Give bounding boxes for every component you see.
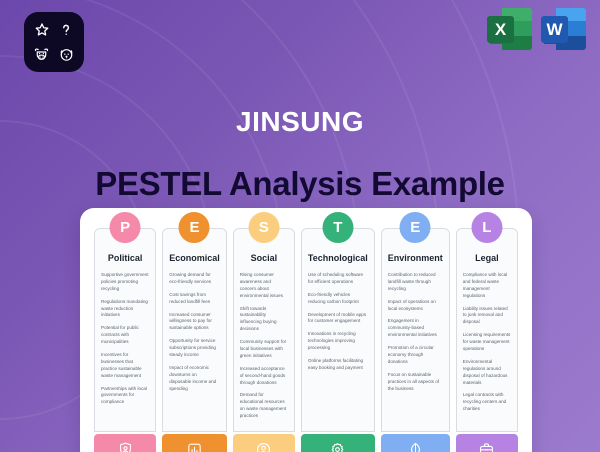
column-badge-economical: E [179, 212, 210, 243]
bullet-item: Licensing requirements for waste managem… [463, 332, 511, 353]
brand-name: JINSUNG [0, 106, 600, 138]
column-body: EconomicalGrowing demand for eco-friendl… [162, 228, 227, 432]
bullet-item: Innovations in recycling technologies im… [308, 331, 368, 352]
column-badge-environment: E [400, 212, 431, 243]
column-title: Environment [388, 253, 443, 263]
bullet-item: Engagement in community-based environmen… [388, 318, 443, 339]
bullet-item: Contribution to reduced landfill waste t… [388, 272, 443, 293]
bullet-item: Compliance with local and federal waste … [463, 272, 511, 300]
column-bullet-list: Use of scheduling software for efficient… [308, 272, 368, 372]
pestel-column-political: PPoliticalSupportive government policies… [94, 228, 156, 452]
bullet-item: Eco-friendly vehicles reducing carbon fo… [308, 292, 368, 306]
column-bullet-list: Growing demand for eco-friendly services… [169, 272, 220, 392]
excel-letter: X [487, 16, 514, 43]
bullet-item: Environmental regulations around disposa… [463, 359, 511, 387]
bullet-item: Online platforms facilitating easy booki… [308, 358, 368, 372]
pestel-column-technological: TTechnologicalUse of scheduling software… [301, 228, 375, 452]
shield-person-icon [94, 434, 156, 452]
column-body: EnvironmentContribution to reduced landf… [381, 228, 450, 432]
bullet-item: Rising consumer awareness and concern ab… [240, 272, 288, 300]
pestel-column-legal: LLegalCompliance with local and federal … [456, 228, 518, 452]
column-bullet-list: Supportive government policies promoting… [101, 272, 149, 406]
cow-face-icon [31, 44, 53, 66]
column-body: LegalCompliance with local and federal w… [456, 228, 518, 432]
bullet-item: Cost savings from reduced landfill fees [169, 292, 220, 306]
office-icon-group: X W [490, 8, 586, 50]
column-badge-technological: T [322, 212, 353, 243]
word-letter: W [541, 16, 568, 43]
bullet-item: Liability issues related to junk removal… [463, 306, 511, 327]
page-title: PESTEL Analysis Example [0, 165, 600, 203]
excel-icon[interactable]: X [490, 8, 532, 50]
bullet-item: Increased acceptance of second-hand good… [240, 366, 288, 387]
column-badge-social: S [248, 212, 279, 243]
pestel-column-environment: EEnvironmentContribution to reduced land… [381, 228, 450, 452]
person-circle-icon [233, 434, 295, 452]
bullet-item: Legal contracts with recycling centers a… [463, 392, 511, 413]
bullet-item: Growing demand for eco-friendly services [169, 272, 220, 286]
bullet-item: Incentives for businesses that practice … [101, 352, 149, 380]
bullet-item: Community support for local businesses w… [240, 339, 288, 360]
dog-face-icon [56, 44, 78, 66]
column-body: SocialRising consumer awareness and conc… [233, 228, 295, 432]
bullet-item: Increased consumer willingness to pay fo… [169, 312, 220, 333]
bullet-item: Focus on sustainable practices in all as… [388, 372, 443, 393]
column-badge-political: P [110, 212, 141, 243]
column-body: PoliticalSupportive government policies … [94, 228, 156, 432]
bullet-item: Opportunity for service subscriptions pr… [169, 338, 220, 359]
column-body: TechnologicalUse of scheduling software … [301, 228, 375, 432]
leaf-icon [381, 434, 450, 452]
brand-logo[interactable] [24, 12, 84, 72]
column-title: Economical [169, 253, 220, 263]
pestel-column-social: SSocialRising consumer awareness and con… [233, 228, 295, 452]
bullet-item: Promotion of a circular economy through … [388, 345, 443, 366]
briefcase-icon [456, 434, 518, 452]
bullet-item: Impact of operations on local ecosystems [388, 299, 443, 313]
pestel-card: PPoliticalSupportive government policies… [80, 208, 532, 452]
bullet-item: Demand for educational resources on wast… [240, 392, 288, 420]
column-title: Social [240, 253, 288, 263]
slide-canvas: X W JINSUNG PESTEL Analysis Example PPol… [0, 0, 600, 452]
bullet-item: Regulations mandating waste reduction in… [101, 299, 149, 320]
pestel-column-economical: EEconomicalGrowing demand for eco-friend… [162, 228, 227, 452]
column-bullet-list: Rising consumer awareness and concern ab… [240, 272, 288, 420]
column-title: Technological [308, 253, 368, 263]
question-mark-icon [56, 19, 78, 41]
bullet-item: Shift towards sustainability influencing… [240, 306, 288, 334]
bullet-item: Impact of economic downturns on disposab… [169, 365, 220, 393]
bullet-item: Use of scheduling software for efficient… [308, 272, 368, 286]
star-icon [31, 19, 53, 41]
column-title: Legal [463, 253, 511, 263]
column-bullet-list: Compliance with local and federal waste … [463, 272, 511, 413]
gear-icon [301, 434, 375, 452]
column-badge-legal: L [471, 212, 502, 243]
bar-chart-icon [162, 434, 227, 452]
column-title: Political [101, 253, 149, 263]
bullet-item: Partnerships with local governments for … [101, 386, 149, 407]
bullet-item: Supportive government policies promoting… [101, 272, 149, 293]
bullet-item: Potential for public contracts with muni… [101, 325, 149, 346]
bullet-item: Development of mobile apps for customer … [308, 312, 368, 326]
column-bullet-list: Contribution to reduced landfill waste t… [388, 272, 443, 392]
word-icon[interactable]: W [544, 8, 586, 50]
